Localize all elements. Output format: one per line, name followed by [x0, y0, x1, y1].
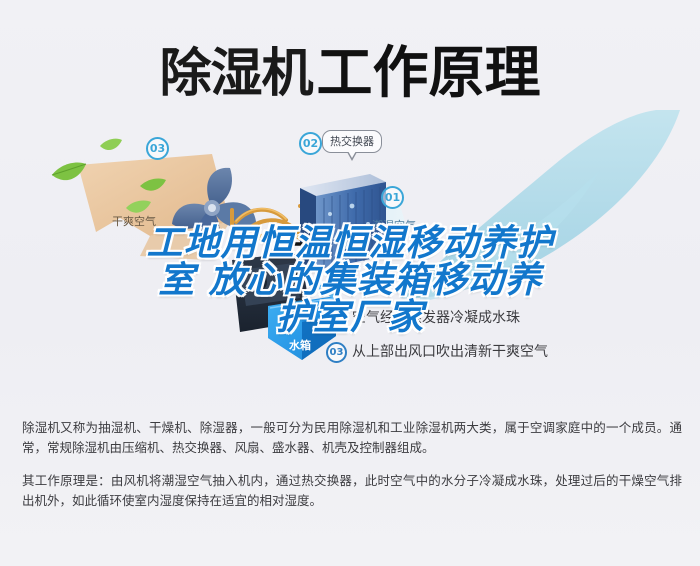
page-title-part2: 工作原理	[317, 41, 541, 106]
diagram-badge-02: 02	[299, 132, 322, 155]
step-badge-02: 02	[326, 308, 347, 329]
step-text-02: 空气经过蒸发器冷凝成水珠	[352, 310, 520, 326]
diagram-badge-03: 03	[146, 137, 169, 160]
dry-air-label: 干爽空气	[112, 213, 156, 229]
humid-air-label: 潮湿空气	[372, 217, 416, 233]
page-root: 除湿机工作原理	[0, 0, 700, 566]
step-line-03: 03从上部出风口吹出清新干爽空气	[326, 341, 548, 363]
step-line-02: 02空气经过蒸发器冷凝成水珠	[326, 307, 520, 329]
body-copy: 除湿机又称为抽湿机、干燥机、除湿器，一般可分为民用除湿机和工业除湿机两大类，属于…	[22, 418, 682, 511]
body-paragraph-2: 其工作原理是：由风机将潮湿空气抽入机内，通过热交换器，此时空气中的水分子冷凝成水…	[22, 471, 682, 511]
water-tank-label: 水箱	[289, 337, 311, 353]
diagram-badge-01: 01	[381, 186, 404, 209]
page-title-part1: 除湿机	[159, 44, 312, 104]
page-title: 除湿机工作原理	[0, 28, 700, 109]
step-badge-03: 03	[326, 342, 347, 363]
step-text-03: 从上部出风口吹出清新干爽空气	[352, 344, 548, 360]
dehumidifier-diagram: 03 02 01 热交换器 干爽空气 潮湿空气 水箱 02空气经过蒸发器冷凝成水…	[0, 110, 700, 400]
heat-exchanger-callout: 热交换器	[322, 130, 382, 153]
body-paragraph-1: 除湿机又称为抽湿机、干燥机、除湿器，一般可分为民用除湿机和工业除湿机两大类，属于…	[22, 418, 682, 458]
water-droplets	[313, 278, 336, 297]
